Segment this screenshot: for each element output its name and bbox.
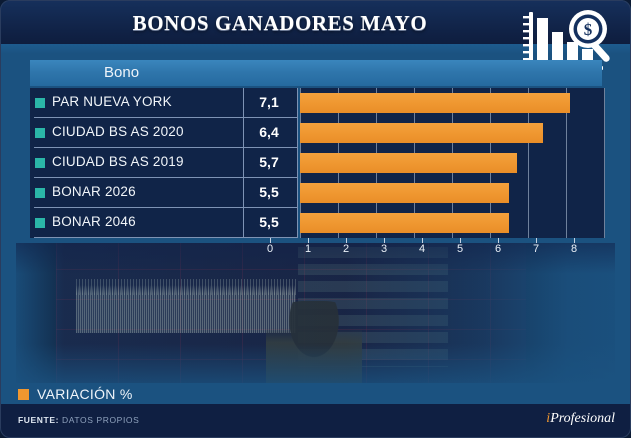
chart-x-axis: 0 1 2 3 4 5 6 7 8 [270, 238, 575, 258]
brand-logo-iprofesional: iProfesional [546, 411, 615, 427]
table-row: BONAR 2046 5,5 [30, 208, 605, 238]
table-column-header-bono: Bono [104, 64, 139, 81]
x-tick-label: 2 [338, 243, 354, 255]
table-row-label: CIUDAD BS AS 2019 [52, 154, 184, 169]
x-tick-label: 7 [528, 243, 544, 255]
source-label: FUENTE: [18, 415, 59, 425]
chart-legend: VARIACIÓN % [18, 386, 133, 402]
background-stock-market-photo [16, 243, 615, 383]
x-tick-label: 0 [262, 243, 278, 255]
table-row: CIUDAD BS AS 2019 5,7 [30, 148, 605, 178]
table-row: CIUDAD BS AS 2020 6,4 [30, 118, 605, 148]
row-swatch-icon [35, 188, 45, 198]
row-swatch-icon [35, 128, 45, 138]
table-row-value: 7,1 [243, 94, 295, 110]
legend-label: VARIACIÓN % [37, 386, 133, 402]
table-row-value: 5,5 [243, 184, 295, 200]
row-swatch-icon [35, 218, 45, 228]
x-tick-label: 5 [452, 243, 468, 255]
table-row-label: BONAR 2026 [52, 184, 136, 199]
x-tick-label: 1 [300, 243, 316, 255]
x-tick-label: 4 [414, 243, 430, 255]
row-swatch-icon [35, 98, 45, 108]
x-tick-label: 6 [490, 243, 506, 255]
bond-table: PAR NUEVA YORK 7,1 CIUDAD BS AS 2020 6,4… [30, 88, 605, 238]
source-credit: FUENTE: DATOS PROPIOS [18, 415, 139, 425]
brand-logo-name: Profesional [550, 411, 615, 426]
table-row-value: 6,4 [243, 124, 295, 140]
legend-swatch-icon [18, 389, 29, 400]
table-row: PAR NUEVA YORK 7,1 [30, 88, 605, 118]
photo-fade-vertical [16, 243, 615, 383]
svg-text:$: $ [584, 20, 593, 39]
x-tick-label: 8 [566, 243, 582, 255]
x-tick-label: 3 [376, 243, 392, 255]
table-row-label: BONAR 2046 [52, 214, 136, 229]
table-row-label: PAR NUEVA YORK [52, 94, 172, 109]
table-row-value: 5,5 [243, 214, 295, 230]
row-swatch-icon [35, 158, 45, 168]
source-value: DATOS PROPIOS [62, 415, 139, 425]
table-row-value: 5,7 [243, 154, 295, 170]
infographic-panel: BONOS GANADORES MAYO [0, 0, 631, 438]
table-column-header-bar: Bono [30, 60, 602, 86]
footer-bar: FUENTE: DATOS PROPIOS iProfesional [0, 404, 631, 438]
table-row: BONAR 2026 5,5 [30, 178, 605, 208]
table-row-label: CIUDAD BS AS 2020 [52, 124, 184, 139]
page-title: BONOS GANADORES MAYO [0, 11, 560, 36]
